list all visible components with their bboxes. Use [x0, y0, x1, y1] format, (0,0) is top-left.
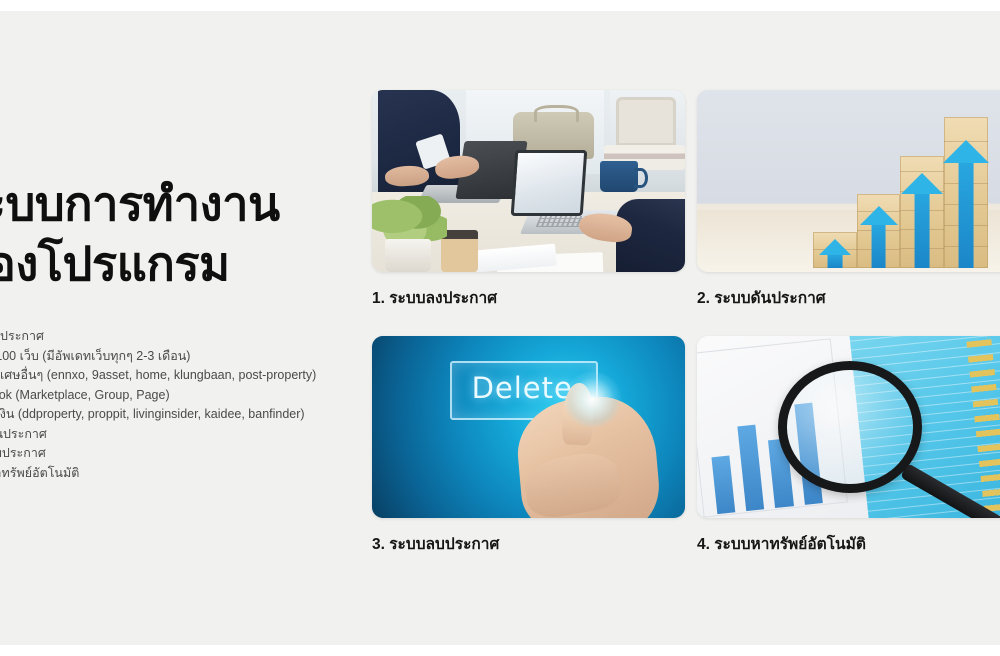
feature-card-4: 4. ระบบหาทรัพย์อัตโนมัติ [697, 336, 1000, 555]
feature-card-2-caption: 2. ระบบดันประกาศ [697, 289, 1000, 309]
chair-decor [616, 97, 675, 146]
arrow-shaft [959, 157, 974, 269]
office-desk-laptops-photo [372, 90, 685, 272]
arrow-shaft [871, 222, 886, 268]
arrow-head [901, 173, 943, 194]
slide-stage: ระบบการทำงาน ของโปรแกรม ระบบลงประกาศ เว็… [0, 11, 1000, 645]
list-item: เว็บฟรีพิเศษอื่นๆ (ennxo, 9asset, home, … [0, 366, 377, 386]
arrow-shaft [827, 254, 842, 269]
office-scene [372, 90, 685, 272]
chart-bar [711, 455, 735, 514]
laptop-right-screen [511, 150, 588, 216]
list-item: ระบบดันประกาศ [0, 425, 377, 445]
page-title-line-1: ระบบการทำงาน [0, 174, 356, 234]
arrow-head [943, 140, 989, 163]
letterbox-strip-bottom [0, 645, 1000, 656]
feature-list: ระบบลงประกาศ เว็บฟรี 100 เว็บ (มีอัพเดทเ… [0, 327, 377, 483]
list-item: ระบบลงประกาศ [0, 327, 377, 347]
feature-card-grid: 1. ระบบลงประกาศ [372, 90, 1000, 570]
presentation-slide: ระบบการทำงาน ของโปรแกรม ระบบลงประกาศ เว็… [0, 0, 1000, 656]
growth-scene [697, 90, 1000, 272]
feature-card-3: Delete 3. ระบบลบประกาศ [372, 336, 685, 555]
list-item: เว็บเสียเงิน (ddproperty, proppit, livin… [0, 405, 377, 425]
touch-glow [563, 372, 622, 427]
arrow-head [860, 206, 898, 225]
magnifier-lens [778, 361, 922, 492]
plant-pot [385, 239, 432, 272]
list-item: Facebook (Marketplace, Group, Page) [0, 386, 377, 406]
delete-button-press-photo: Delete [372, 336, 685, 518]
feature-card-1-caption: 1. ระบบลงประกาศ [372, 289, 685, 309]
left-text-column: ระบบการทำงาน ของโปรแกรม ระบบลงประกาศ เว็… [0, 11, 356, 645]
arrow-head [819, 239, 851, 255]
blue-arrow-2 [857, 194, 901, 269]
blue-arrow-3 [900, 156, 944, 269]
blue-arrow-1 [813, 232, 857, 268]
letterbox-strip-top [0, 0, 1000, 11]
feature-card-3-caption: 3. ระบบลบประกาศ [372, 535, 685, 555]
list-item: เว็บฟรี 100 เว็บ (มีอัพเดทเว็บทุกๆ 2-3 เ… [0, 347, 377, 367]
list-item: ระบบหาทรัพย์อัตโนมัติ [0, 464, 377, 484]
feature-card-2: 2. ระบบดันประกาศ [697, 90, 1000, 309]
growth-blocks-arrows-photo [697, 90, 1000, 272]
arrow-shaft [915, 189, 930, 268]
blue-mug [600, 161, 638, 192]
delete-scene: Delete [372, 336, 685, 518]
chart-bar [738, 424, 765, 511]
feature-card-4-caption: 4. ระบบหาทรัพย์อัตโนมัติ [697, 535, 1000, 555]
blue-arrow-4 [944, 117, 988, 268]
page-title: ระบบการทำงาน ของโปรแกรม [0, 174, 356, 294]
page-title-line-2: ของโปรแกรม [0, 234, 356, 294]
search-scene [697, 336, 1000, 518]
magnifier-chart-report-photo [697, 336, 1000, 518]
feature-card-1: 1. ระบบลงประกาศ [372, 90, 685, 309]
list-item: ระบบลบประกาศ [0, 444, 377, 464]
